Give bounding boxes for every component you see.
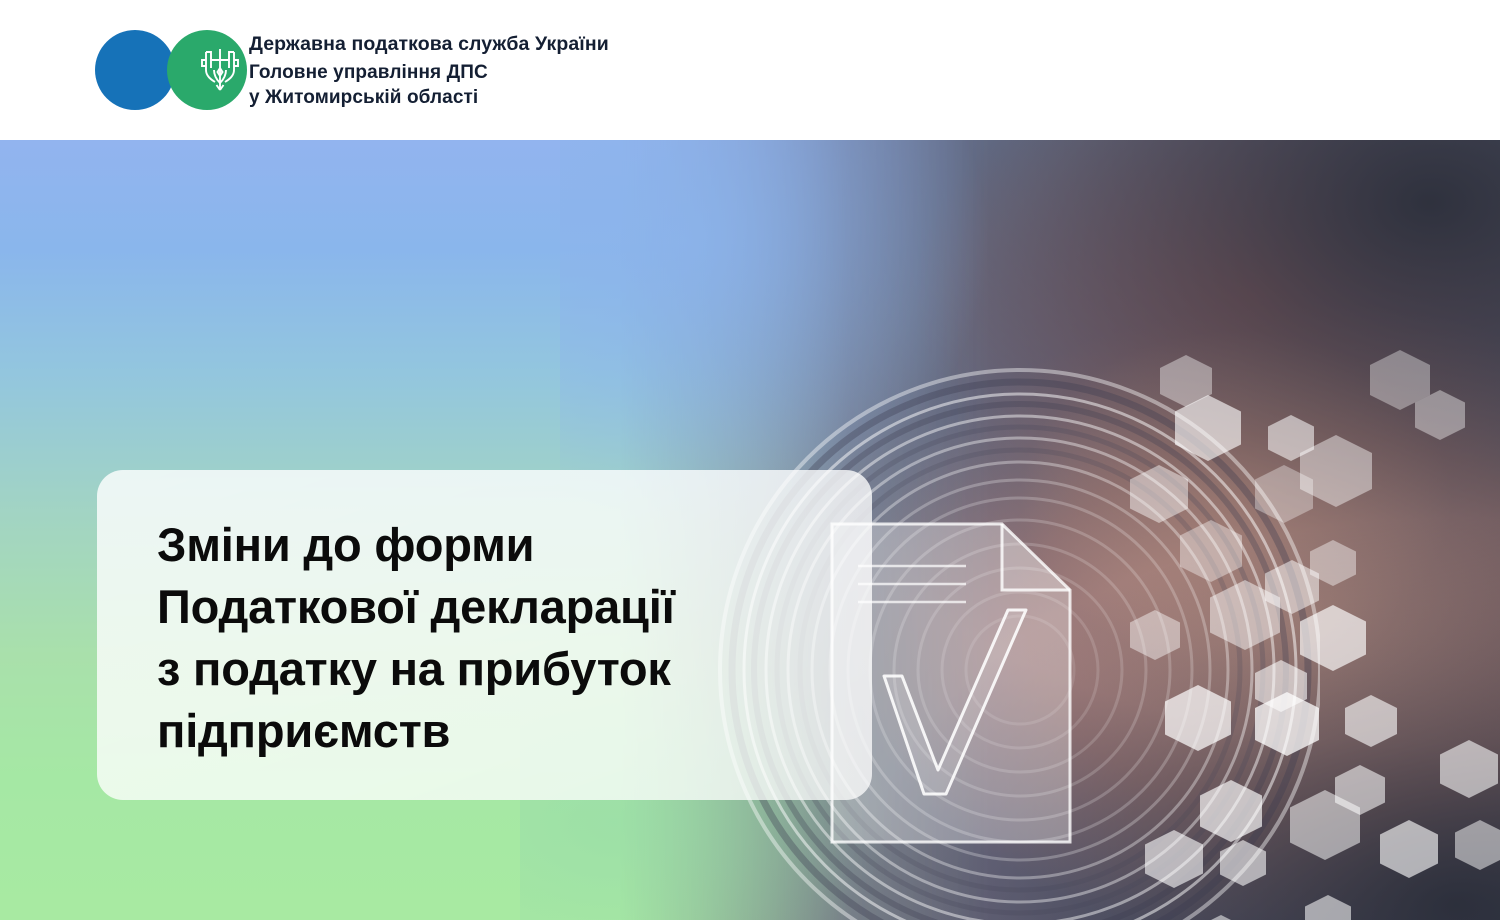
title-line-1: Зміни до форми <box>157 514 857 576</box>
title-line-2: Податкової декларації <box>157 576 857 638</box>
poster-canvas: Державна податкова служба України Головн… <box>0 0 1500 920</box>
site-header: Державна податкова служба України Головн… <box>0 0 1500 140</box>
title-card: Зміни до форми Податкової декларації з п… <box>97 470 872 800</box>
dps-logo[interactable] <box>95 30 235 110</box>
logo-blue-circle-icon <box>95 30 175 110</box>
title-line-3: з податку на прибуток <box>157 638 857 700</box>
brand-text-block: Державна податкова служба України Головн… <box>249 31 609 110</box>
hero-banner: Зміни до форми Податкової декларації з п… <box>0 140 1500 920</box>
page-title: Зміни до форми Податкової декларації з п… <box>157 514 857 762</box>
org-name-line-1: Державна податкова служба України <box>249 31 609 57</box>
org-name-line-2: Головне управління ДПС <box>249 60 609 85</box>
brand-lockup[interactable]: Державна податкова служба України Головн… <box>95 30 609 110</box>
title-line-4: підприємств <box>157 700 857 762</box>
ukraine-trident-icon <box>197 46 243 96</box>
org-name-line-3: у Житомирській області <box>249 85 609 110</box>
